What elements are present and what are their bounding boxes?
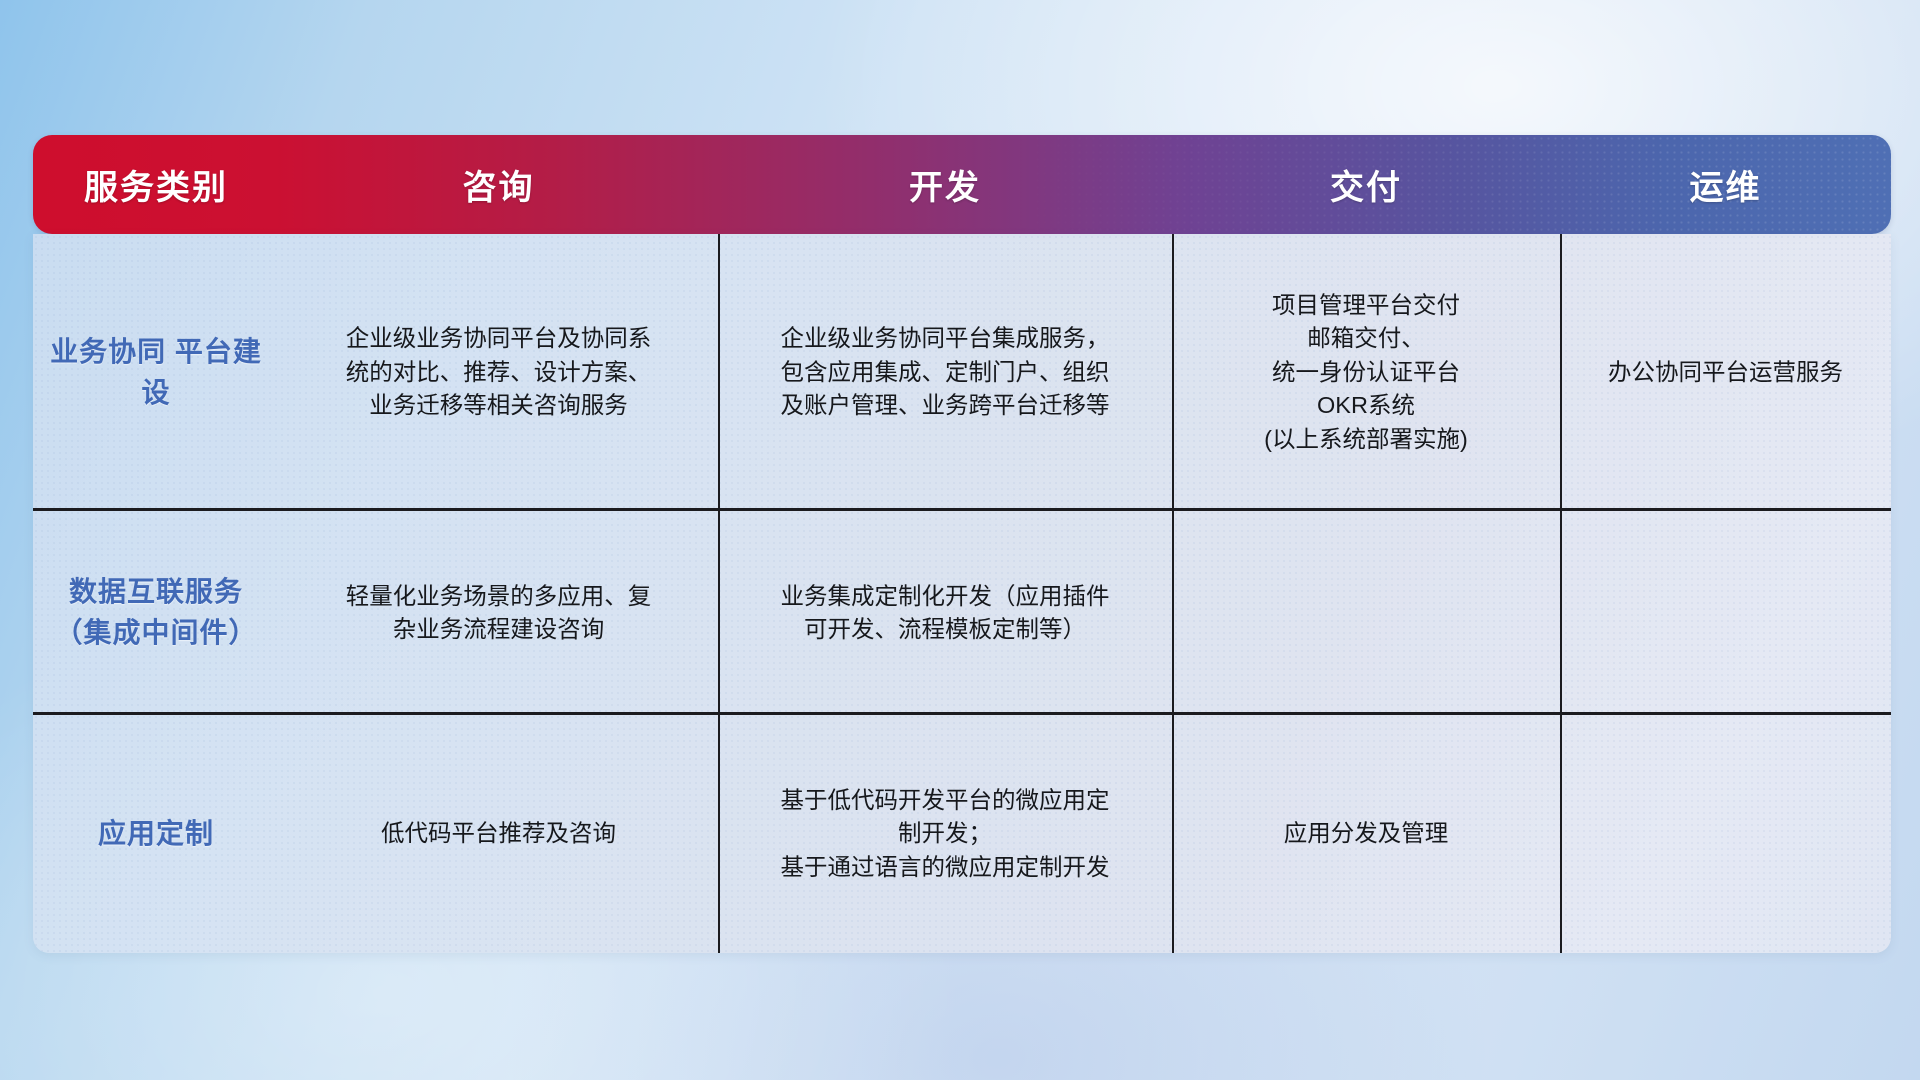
column-header-consult: 咨询 (279, 160, 718, 209)
cell-text: 应用分发及管理 (1284, 817, 1449, 850)
cell-text: 低代码平台推荐及咨询 (381, 817, 616, 850)
cell-deliver (1172, 511, 1560, 715)
cell-operate (1560, 511, 1891, 715)
table-header-row: 服务类别 咨询 开发 交付 运维 (33, 135, 1891, 234)
table-row: 应用定制 低代码平台推荐及咨询 基于低代码开发平台的微应用定 制开发； 基于通过… (33, 715, 1891, 953)
cell-consult: 低代码平台推荐及咨询 (279, 715, 718, 953)
cell-category: 应用定制 (33, 715, 279, 953)
cell-text: 基于低代码开发平台的微应用定 制开发； 基于通过语言的微应用定制开发 (781, 784, 1110, 884)
column-header-operate: 运维 (1560, 160, 1891, 209)
cell-text: 企业级业务协同平台集成服务， 包含应用集成、定制门户、组织 及账户管理、业务跨平… (781, 322, 1110, 422)
cell-operate: 办公协同平台运营服务 (1560, 234, 1891, 511)
category-label: 业务协同 平台建设 (47, 332, 265, 413)
table-row: 数据互联服务 （集成中间件） 轻量化业务场景的多应用、复 杂业务流程建设咨询 业… (33, 511, 1891, 715)
category-label: 应用定制 (98, 814, 214, 855)
column-header-category: 服务类别 (33, 160, 279, 209)
cell-text: 轻量化业务场景的多应用、复 杂业务流程建设咨询 (346, 580, 652, 647)
table-body: 业务协同 平台建设 企业级业务协同平台及协同系 统的对比、推荐、设计方案、 业务… (33, 234, 1891, 953)
cell-text: 企业级业务协同平台及协同系 统的对比、推荐、设计方案、 业务迁移等相关咨询服务 (346, 322, 652, 422)
cell-develop: 基于低代码开发平台的微应用定 制开发； 基于通过语言的微应用定制开发 (718, 715, 1172, 953)
cell-deliver: 项目管理平台交付 邮箱交付、 统一身份认证平台 OKR系统 (以上系统部署实施) (1172, 234, 1560, 511)
cell-develop: 企业级业务协同平台集成服务， 包含应用集成、定制门户、组织 及账户管理、业务跨平… (718, 234, 1172, 511)
cell-text: 办公协同平台运营服务 (1608, 356, 1843, 389)
service-matrix-table: 服务类别 咨询 开发 交付 运维 业务协同 平台建设 企业级业务协同平台及协同系… (33, 135, 1891, 953)
row-divider (33, 712, 1891, 715)
cell-consult: 轻量化业务场景的多应用、复 杂业务流程建设咨询 (279, 511, 718, 715)
cell-develop: 业务集成定制化开发（应用插件 可开发、流程模板定制等） (718, 511, 1172, 715)
cell-operate (1560, 715, 1891, 953)
cell-category: 数据互联服务 （集成中间件） (33, 511, 279, 715)
cell-consult: 企业级业务协同平台及协同系 统的对比、推荐、设计方案、 业务迁移等相关咨询服务 (279, 234, 718, 511)
column-header-develop: 开发 (718, 160, 1172, 209)
row-divider (33, 508, 1891, 511)
cell-text: 项目管理平台交付 邮箱交付、 统一身份认证平台 OKR系统 (以上系统部署实施) (1264, 289, 1468, 456)
cell-category: 业务协同 平台建设 (33, 234, 279, 511)
cell-text: 业务集成定制化开发（应用插件 可开发、流程模板定制等） (781, 580, 1110, 647)
cell-deliver: 应用分发及管理 (1172, 715, 1560, 953)
category-label: 数据互联服务 （集成中间件） (47, 572, 265, 653)
column-header-deliver: 交付 (1172, 160, 1560, 209)
table-row: 业务协同 平台建设 企业级业务协同平台及协同系 统的对比、推荐、设计方案、 业务… (33, 234, 1891, 511)
